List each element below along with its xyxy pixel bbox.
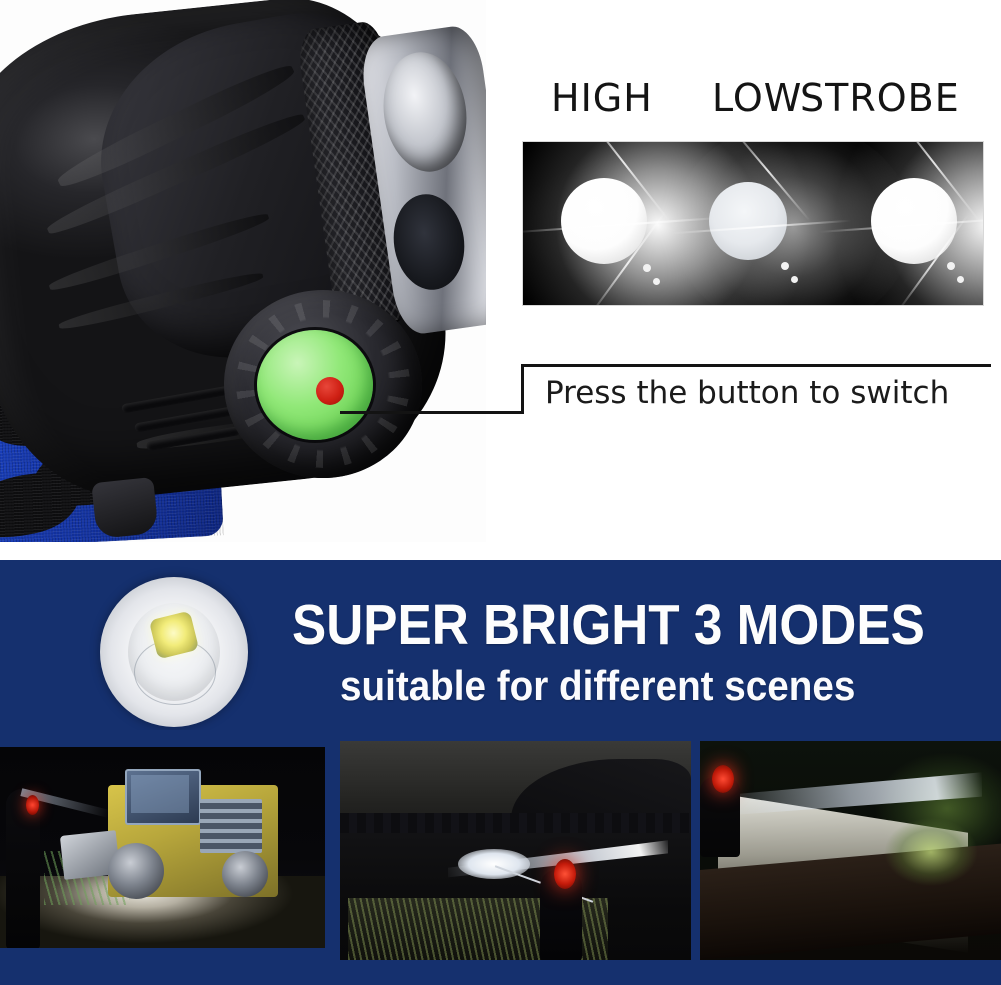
power-button[interactable] (257, 330, 373, 440)
button-indicator-dot (316, 377, 344, 405)
callout-bracket-top (521, 364, 991, 367)
housing-clip (91, 477, 159, 539)
led-bulb-low (709, 182, 787, 260)
red-indicator-light (554, 859, 576, 889)
banner-title: SUPER BRIGHT 3 MODES (292, 594, 904, 656)
callout-leader-line (340, 411, 524, 414)
top-section: HIGH LOW STROBE (0, 0, 1001, 552)
callout-text: Press the button to switch (545, 375, 995, 411)
product-infographic: HIGH LOW STROBE (0, 0, 1001, 985)
red-indicator-light (712, 765, 734, 793)
scene-photo-night-construction-loader (0, 747, 325, 948)
callout-bracket-vertical (521, 364, 524, 414)
loader-grille (200, 799, 262, 853)
led-reflector-icon (100, 577, 248, 727)
mode-label-high: HIGH (551, 76, 653, 120)
red-indicator-light (26, 795, 39, 815)
led-spec-dot (781, 262, 789, 270)
led-spec-dot (653, 278, 660, 285)
banner-subtitle: suitable for different scenes (340, 662, 929, 710)
led-comparison-panel (523, 142, 983, 305)
led-spec-dot (791, 276, 798, 283)
led-bulb-strobe (871, 178, 957, 264)
scene-photo-night-path-wall-beam (700, 741, 1001, 960)
scene-photo-night-fishing-beam (340, 741, 691, 960)
mode-label-strobe: STROBE (800, 76, 960, 120)
headlamp-product-photo (0, 0, 486, 542)
loader-wheel (222, 851, 268, 897)
loader-cab-glass (131, 775, 189, 813)
loader-wheel (108, 843, 164, 899)
led-spec-dot (947, 262, 955, 270)
mode-label-low: LOW (712, 76, 802, 120)
led-spec-dot (643, 264, 651, 272)
led-spec-dot (957, 276, 964, 283)
lit-foliage (871, 807, 991, 897)
